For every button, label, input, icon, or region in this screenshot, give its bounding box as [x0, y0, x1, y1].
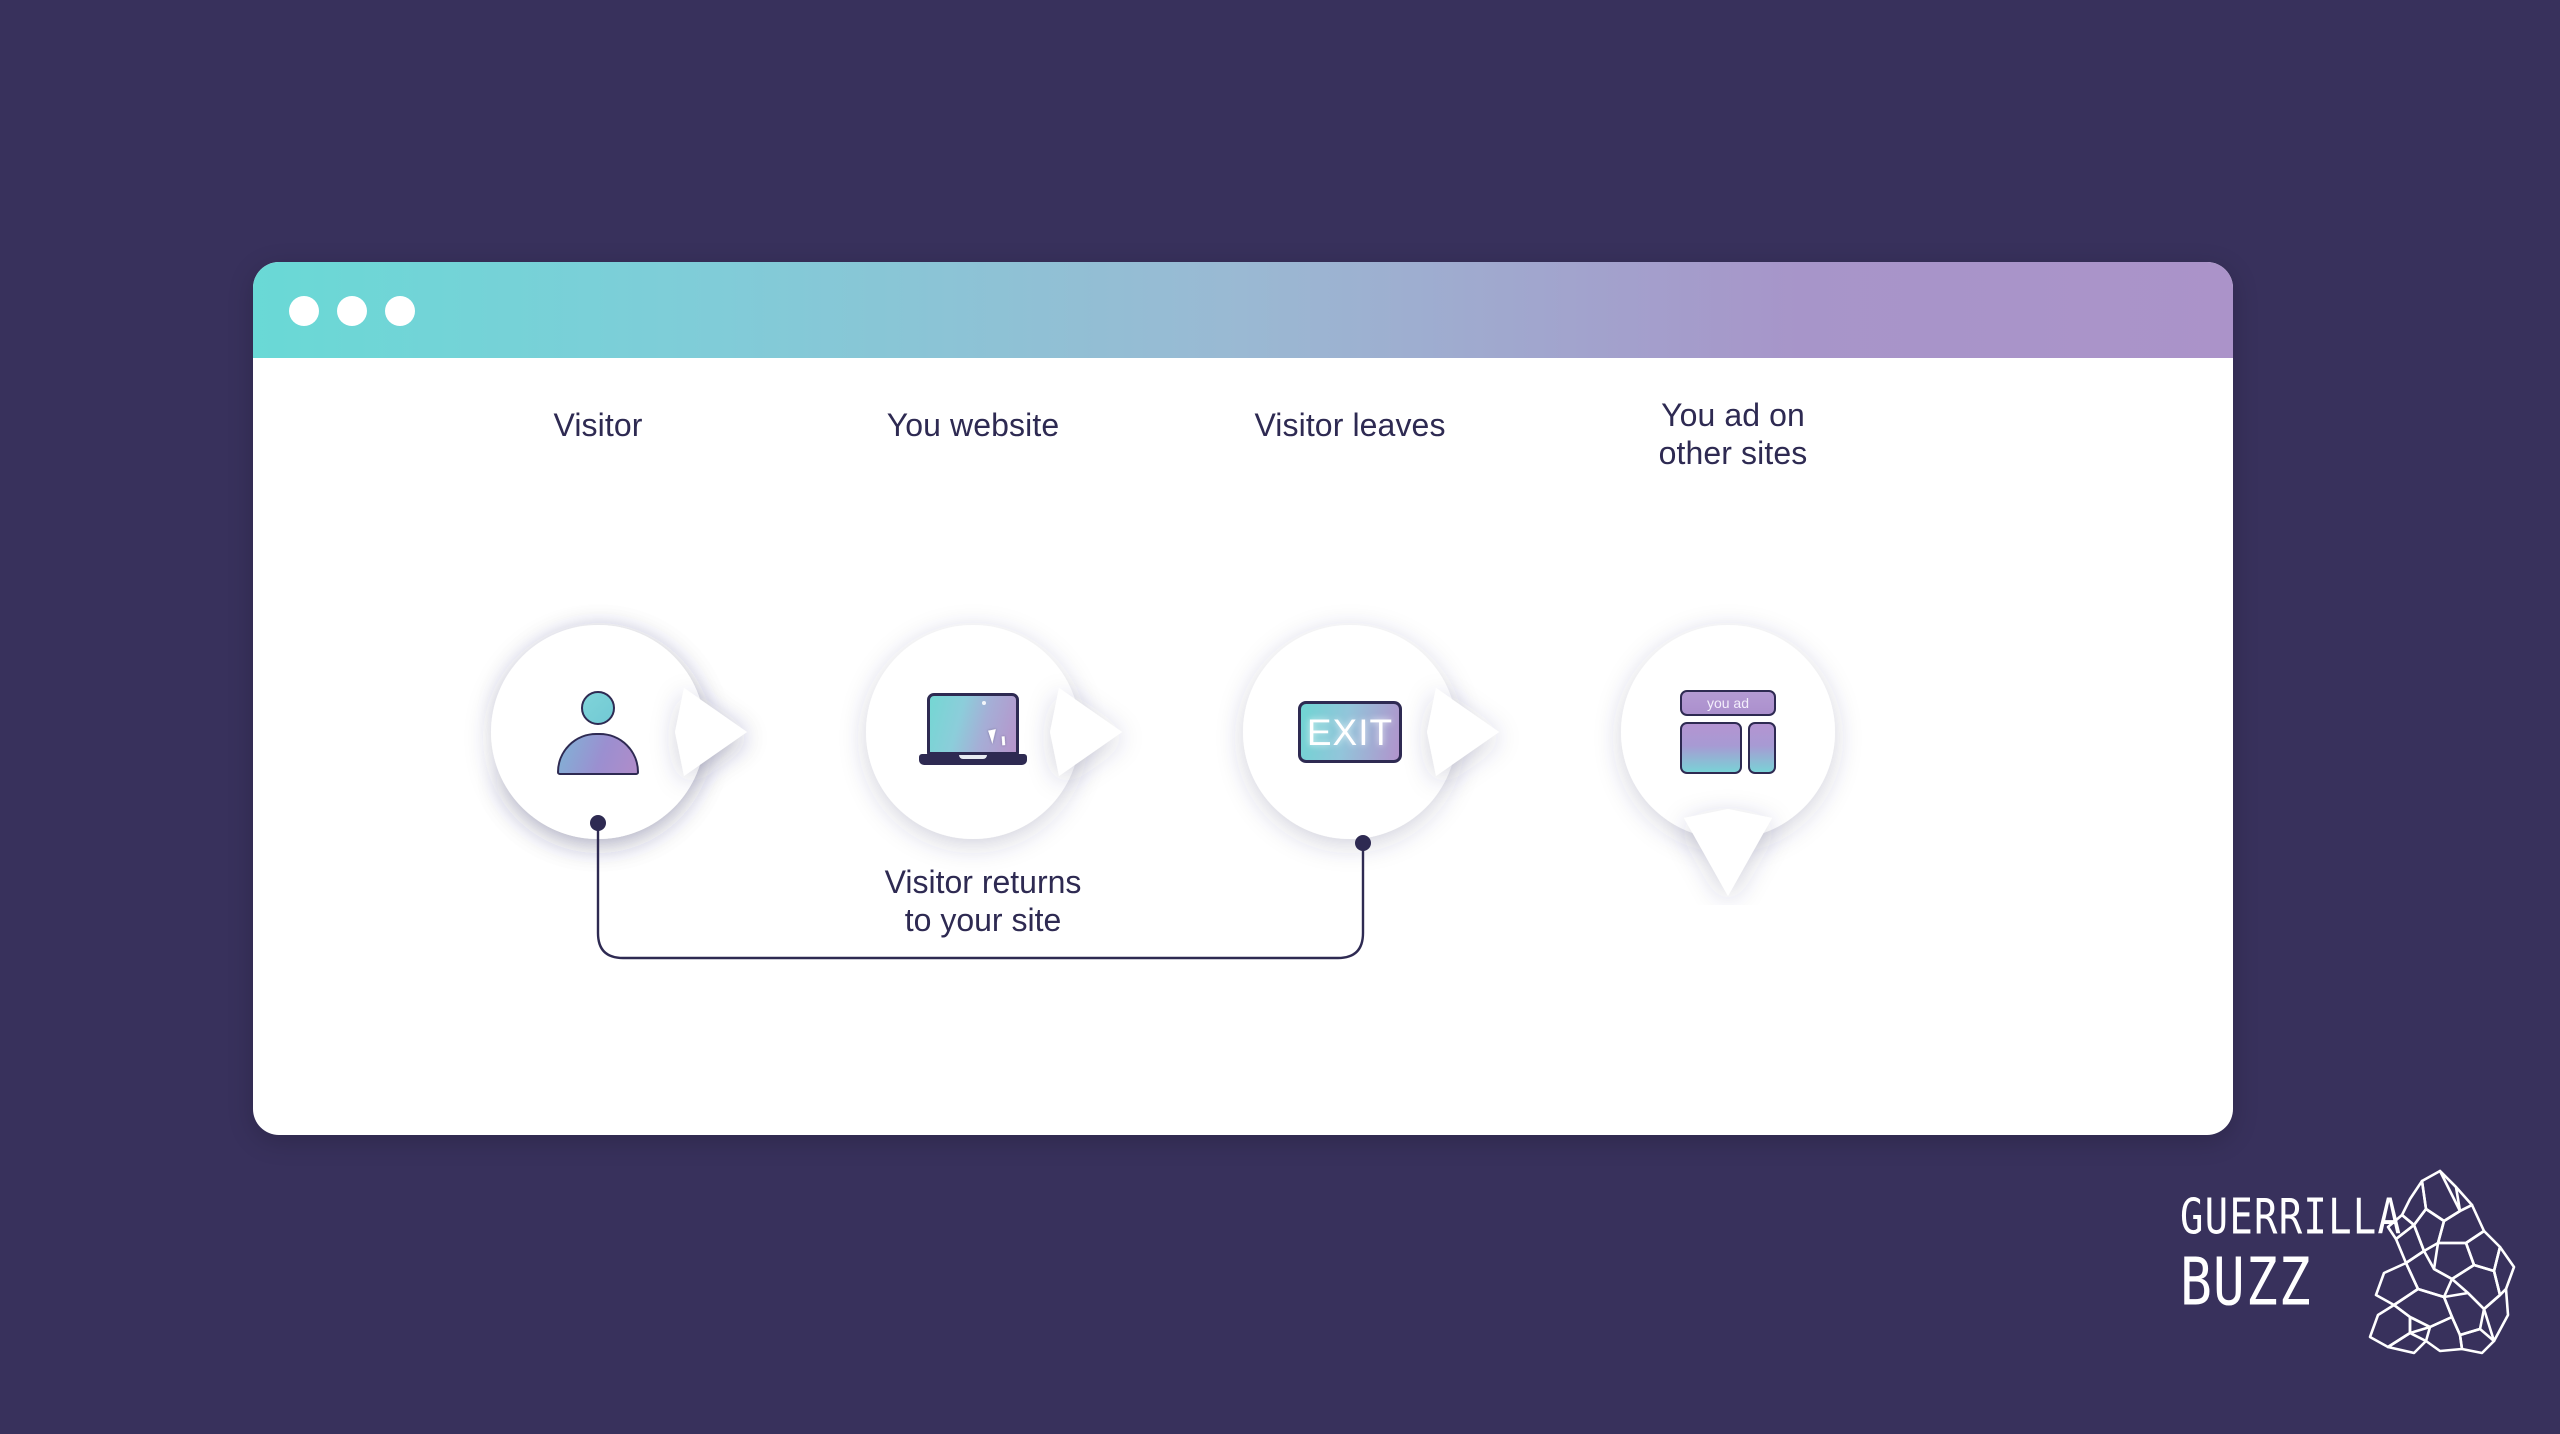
laptop-icon: [919, 693, 1027, 771]
exit-sign-icon: EXIT: [1298, 701, 1402, 763]
exit-sign-label: EXIT: [1307, 714, 1393, 751]
geometric-gorilla-logo-icon: [2348, 1165, 2520, 1361]
brand-wordmark: GUERRILLA BUZZ: [2180, 1191, 2360, 1304]
brand-logo: GUERRILLA BUZZ: [2180, 1165, 2520, 1365]
laptop-camera-dot: [982, 701, 986, 705]
flow-diagram-stage: Visitor You website Visitor leaves You a…: [253, 358, 2233, 1135]
visitor-person-icon: [555, 689, 641, 775]
step-bubble-you-website[interactable]: [866, 625, 1080, 839]
step-label-you-ad-on-other-sites: You ad on other sites: [1608, 396, 1858, 472]
ad-box-side-shape: [1748, 722, 1776, 774]
ad-box-main-shape: [1680, 722, 1742, 774]
ad-banner-label: you ad: [1707, 696, 1749, 710]
laptop-screen-shape: [927, 693, 1019, 755]
person-head-shape: [581, 691, 615, 725]
ad-block-icon: you ad: [1676, 690, 1780, 774]
bubble-content-visitor-leaves: EXIT: [1243, 625, 1457, 839]
browser-window-card: Visitor You website Visitor leaves You a…: [253, 262, 2233, 1135]
step-bubble-visitor[interactable]: [491, 625, 705, 839]
brand-line-buzz: BUZZ: [2180, 1248, 2360, 1318]
browser-title-bar: [253, 262, 2233, 358]
bubble-content-visitor: [491, 625, 705, 839]
step-label-visitor: Visitor: [478, 406, 718, 444]
brand-line-guerrilla: GUERRILLA: [2180, 1191, 2360, 1246]
mouse-cursor-icon: [988, 728, 1000, 744]
step-label-you-website: You website: [853, 406, 1093, 444]
bubble-content-you-website: [866, 625, 1080, 839]
window-dot-maximize-icon[interactable]: [385, 296, 415, 326]
bubble-content-you-ad: you ad: [1621, 625, 1835, 839]
step-bubble-you-ad[interactable]: you ad: [1621, 625, 1835, 839]
ad-banner-shape: you ad: [1680, 690, 1776, 716]
window-dot-close-icon[interactable]: [289, 296, 319, 326]
step-label-visitor-leaves: Visitor leaves: [1230, 406, 1470, 444]
step-bubble-visitor-leaves[interactable]: EXIT: [1243, 625, 1457, 839]
return-path-label: Visitor returns to your site: [708, 863, 1258, 939]
window-dot-minimize-icon[interactable]: [337, 296, 367, 326]
person-body-shape: [557, 733, 639, 775]
laptop-notch-shape: [959, 755, 987, 759]
